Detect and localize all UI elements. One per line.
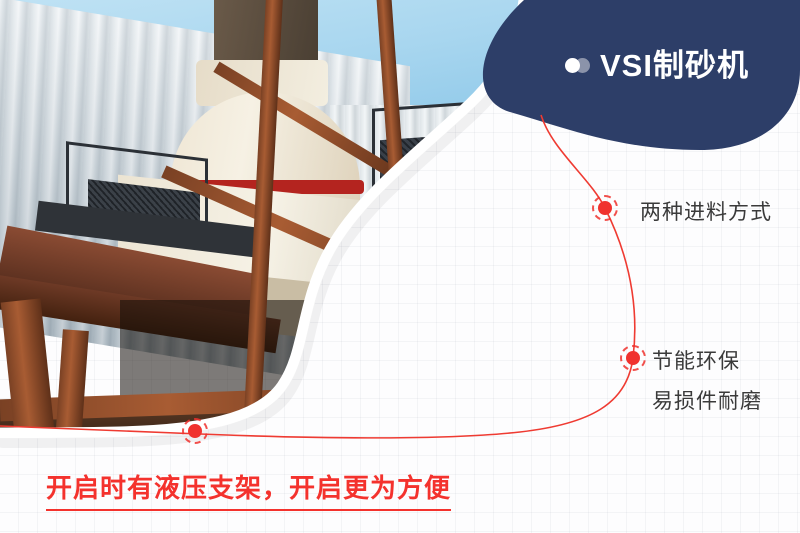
feature-label-3: 易损件耐磨 xyxy=(652,385,762,415)
bullet-dot-icon xyxy=(565,58,591,73)
feature-label-1: 两种进料方式 xyxy=(640,196,772,226)
marker-dot-2 xyxy=(620,345,646,371)
marker-dot-1 xyxy=(592,195,618,221)
marker-dot-3 xyxy=(182,418,208,444)
marker-dot-core xyxy=(188,424,202,438)
page-title: VSI制砂机 xyxy=(600,40,749,85)
bottom-caption: 开启时有液压支架，开启更为方便 xyxy=(46,468,451,511)
promo-banner: VSI制砂机 两种进料方式 节能环保 易损件耐磨 开启时有液压支架，开启更为方便 xyxy=(0,0,800,533)
feature-label-2: 节能环保 xyxy=(652,345,740,375)
bullet-white-circle xyxy=(565,58,580,73)
marker-dot-core xyxy=(598,201,612,215)
marker-dot-core xyxy=(626,351,640,365)
